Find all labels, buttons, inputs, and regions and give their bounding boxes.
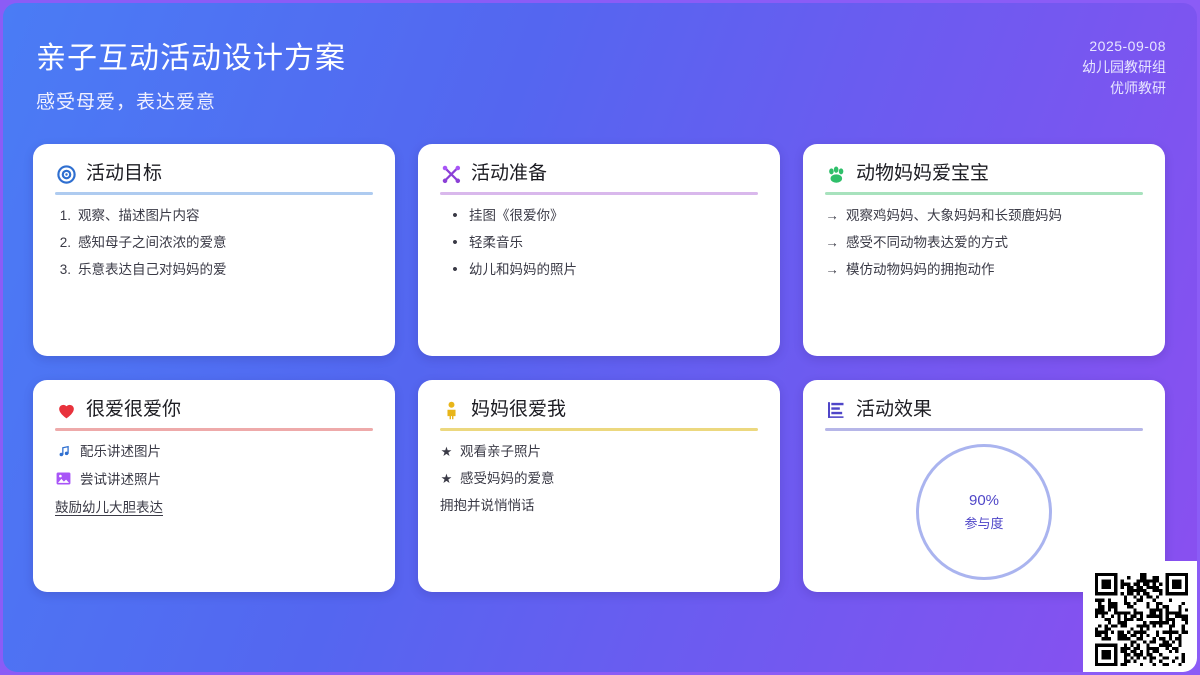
slide-header: 亲子互动活动设计方案 感受母爱，表达爱意 2025-09-08 幼儿园教研组 优… <box>3 3 1197 131</box>
list-item: 1. 观察、描述图片内容 <box>55 207 373 225</box>
animal-list: → 观察鸡妈妈、大象妈妈和长颈鹿妈妈 → 感受不同动物表达爱的方式 → 模仿动物… <box>825 207 1143 279</box>
card-header: 妈妈很爱我 <box>440 399 758 428</box>
list-item: → 观察鸡妈妈、大象妈妈和长颈鹿妈妈 <box>825 207 1143 225</box>
participation-gauge: 90% 参与度 <box>916 444 1052 580</box>
picture-icon <box>55 471 72 486</box>
card-animal-mothers[interactable]: 动物妈妈爱宝宝 → 观察鸡妈妈、大象妈妈和长颈鹿妈妈 → 感受不同动物表达爱的方… <box>803 144 1165 356</box>
bullet-icon: • <box>448 207 462 224</box>
gauge-container: 90% 参与度 <box>803 444 1165 580</box>
card-header: 动物妈妈爱宝宝 <box>825 163 1143 192</box>
bullet-icon: • <box>448 234 462 251</box>
list-item: • 挂图《很爱你》 <box>440 207 758 225</box>
card-title: 很爱很爱你 <box>86 399 181 421</box>
meta-org: 幼儿园教研组 <box>1082 57 1166 78</box>
heart-icon <box>55 399 77 421</box>
card-footnote: 拥抱并说悄悄话 <box>440 497 758 515</box>
love-list: 配乐讲述图片 尝试讲述照片 <box>55 443 373 489</box>
item-text: 尝试讲述照片 <box>80 471 161 489</box>
card-rule <box>55 192 373 195</box>
item-number: 1. <box>55 207 71 225</box>
card-rule <box>825 428 1143 431</box>
arrow-icon: → <box>825 207 839 225</box>
item-number: 3. <box>55 261 71 279</box>
card-love-you-much[interactable]: 很爱很爱你 配乐讲述图片 <box>33 380 395 592</box>
item-text: 感知母子之间浓浓的爱意 <box>78 234 227 252</box>
music-note-icon <box>55 443 72 458</box>
card-rule <box>440 192 758 195</box>
bullet-icon: • <box>448 261 462 278</box>
item-text: 观看亲子照片 <box>460 443 541 461</box>
qr-panel <box>1083 561 1197 672</box>
item-text: 配乐讲述图片 <box>80 443 161 461</box>
list-item: ★ 感受妈妈的爱意 <box>440 470 758 488</box>
item-text: 轻柔音乐 <box>469 234 523 252</box>
list-item: • 幼儿和妈妈的照片 <box>440 261 758 279</box>
tools-icon <box>440 163 462 185</box>
card-title: 活动效果 <box>856 399 932 421</box>
item-number: 2. <box>55 234 71 252</box>
mom-list: ★ 观看亲子照片 ★ 感受妈妈的爱意 <box>440 443 758 488</box>
gauge-value: 90% <box>969 492 999 509</box>
qr-code[interactable] <box>1095 573 1188 666</box>
list-item: 配乐讲述图片 <box>55 443 373 461</box>
card-rule <box>55 428 373 431</box>
list-item: → 模仿动物妈妈的拥抱动作 <box>825 261 1143 279</box>
card-header: 活动准备 <box>440 163 758 192</box>
list-item: → 感受不同动物表达爱的方式 <box>825 234 1143 252</box>
paw-icon <box>825 163 847 185</box>
card-title: 活动目标 <box>86 163 162 185</box>
child-icon <box>440 399 462 421</box>
card-grid: 活动目标 1. 观察、描述图片内容 2. 感知母子之间浓浓的爱意 3. 乐意表达… <box>33 144 1168 592</box>
list-item: 尝试讲述照片 <box>55 471 373 489</box>
slide-canvas: 亲子互动活动设计方案 感受母爱，表达爱意 2025-09-08 幼儿园教研组 优… <box>3 3 1197 672</box>
bar-chart-icon <box>825 399 847 421</box>
card-activity-goals[interactable]: 活动目标 1. 观察、描述图片内容 2. 感知母子之间浓浓的爱意 3. 乐意表达… <box>33 144 395 356</box>
star-icon: ★ <box>440 443 453 461</box>
card-header: 很爱很爱你 <box>55 399 373 428</box>
item-text: 挂图《很爱你》 <box>469 207 564 225</box>
target-icon <box>55 163 77 185</box>
card-activity-preparation[interactable]: 活动准备 • 挂图《很爱你》 • 轻柔音乐 • 幼儿和妈妈的照片 <box>418 144 780 356</box>
card-footnote: 鼓励幼儿大胆表达 <box>55 499 373 517</box>
item-text: 观察、描述图片内容 <box>78 207 200 225</box>
card-title: 妈妈很爱我 <box>471 399 566 421</box>
list-item: 2. 感知母子之间浓浓的爱意 <box>55 234 373 252</box>
card-title: 动物妈妈爱宝宝 <box>856 163 989 185</box>
preparation-list: • 挂图《很爱你》 • 轻柔音乐 • 幼儿和妈妈的照片 <box>440 207 758 279</box>
list-item: 3. 乐意表达自己对妈妈的爱 <box>55 261 373 279</box>
meta-brand: 优师教研 <box>1082 78 1166 99</box>
item-text: 观察鸡妈妈、大象妈妈和长颈鹿妈妈 <box>846 207 1062 225</box>
card-header: 活动效果 <box>825 399 1143 428</box>
card-header: 活动目标 <box>55 163 373 192</box>
item-text: 幼儿和妈妈的照片 <box>469 261 577 279</box>
list-item: • 轻柔音乐 <box>440 234 758 252</box>
item-text: 模仿动物妈妈的拥抱动作 <box>846 261 995 279</box>
gauge-label: 参与度 <box>964 513 1003 532</box>
item-text: 感受妈妈的爱意 <box>460 470 555 488</box>
star-icon: ★ <box>440 470 453 488</box>
item-text: 乐意表达自己对妈妈的爱 <box>78 261 227 279</box>
card-rule <box>440 428 758 431</box>
goal-list: 1. 观察、描述图片内容 2. 感知母子之间浓浓的爱意 3. 乐意表达自己对妈妈… <box>55 207 373 279</box>
meta-date: 2025-09-08 <box>1082 36 1166 57</box>
card-mom-loves-me[interactable]: 妈妈很爱我 ★ 观看亲子照片 ★ 感受妈妈的爱意 拥抱并说悄悄话 <box>418 380 780 592</box>
item-text: 感受不同动物表达爱的方式 <box>846 234 1008 252</box>
card-title: 活动准备 <box>471 163 547 185</box>
page-subtitle: 感受母爱，表达爱意 <box>36 87 216 114</box>
header-meta: 2025-09-08 幼儿园教研组 优师教研 <box>1082 36 1166 99</box>
arrow-icon: → <box>825 234 839 252</box>
page-title: 亲子互动活动设计方案 <box>36 33 346 77</box>
list-item: ★ 观看亲子照片 <box>440 443 758 461</box>
arrow-icon: → <box>825 261 839 279</box>
card-rule <box>825 192 1143 195</box>
